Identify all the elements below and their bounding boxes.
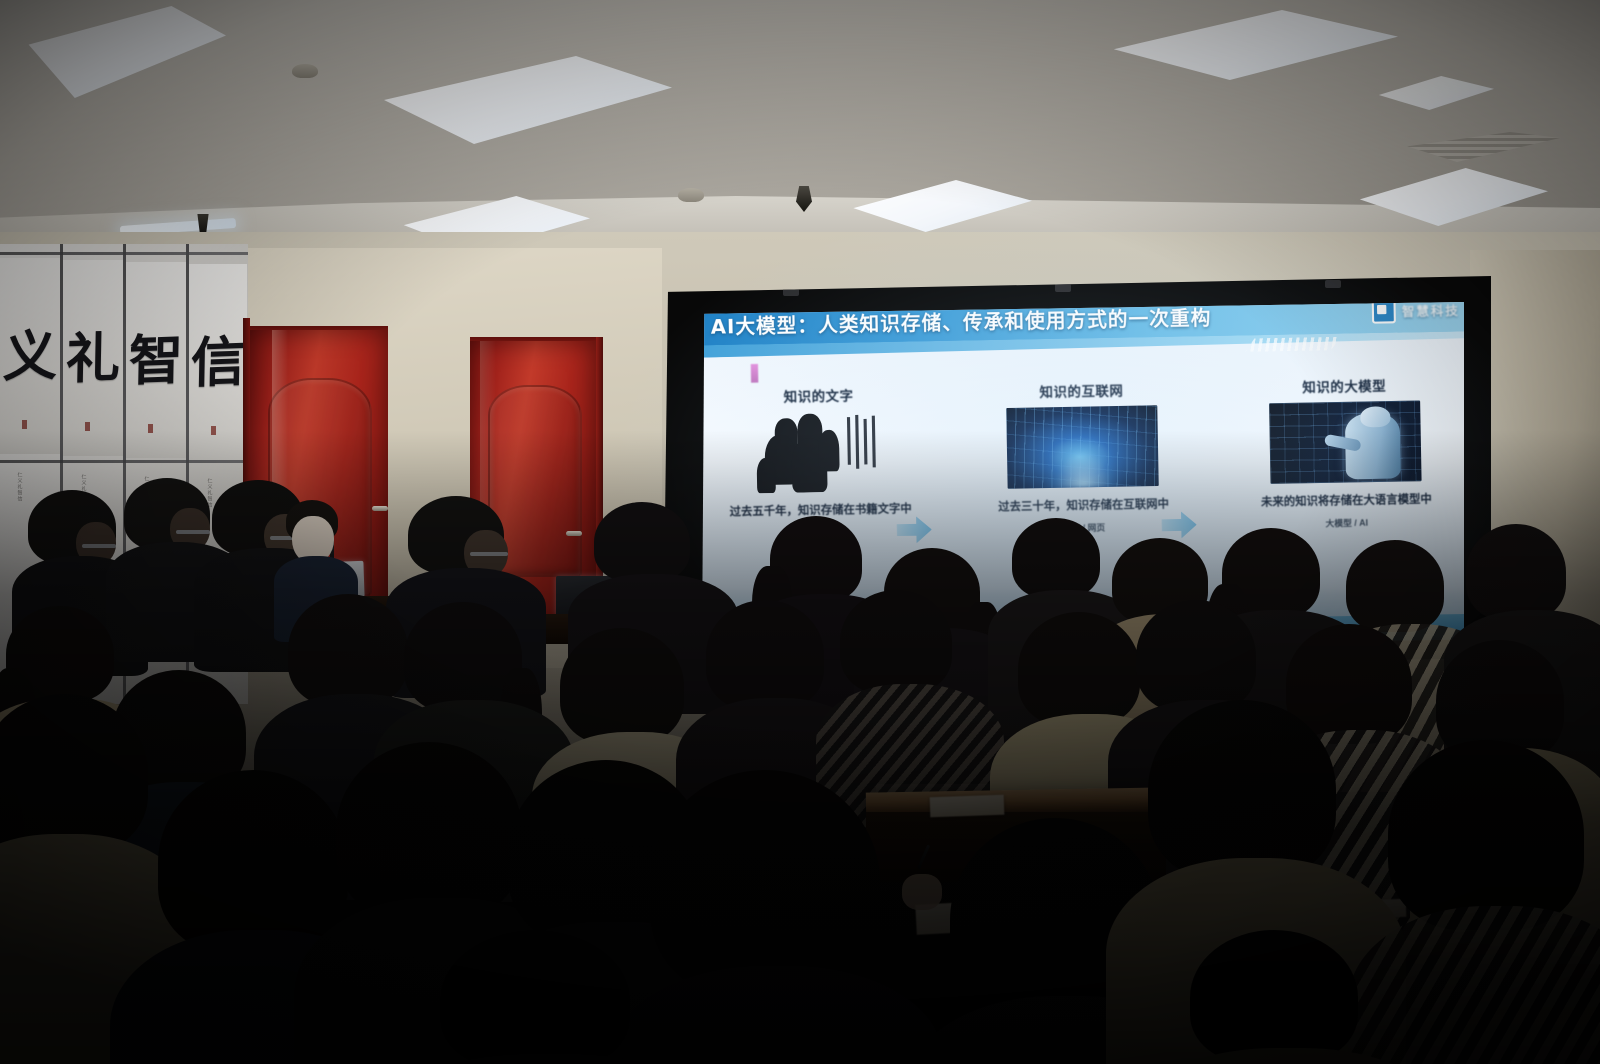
panel-title: 知识的文字 bbox=[704, 384, 933, 408]
slide-panel-llm: 知识的大模型 未来的知识将存储在大语言模型中 大模型 / AI bbox=[1230, 374, 1461, 532]
calligraphy-character: 智 bbox=[128, 332, 183, 388]
paper-sheet bbox=[930, 795, 1005, 818]
calligraphy-character: 信 bbox=[190, 334, 245, 390]
seal-mark-icon bbox=[22, 420, 27, 429]
door-handle[interactable] bbox=[566, 531, 582, 536]
smoke-detector-icon bbox=[292, 64, 318, 78]
panel-title: 知识的互联网 bbox=[967, 379, 1196, 403]
calligraphy-panel: 智 bbox=[126, 262, 186, 458]
panel-caption: 未来的知识将存储在大语言模型中 bbox=[1232, 491, 1461, 512]
square-logo-icon bbox=[1372, 302, 1396, 324]
conference-room-scene: 义 礼 智 信 仁义礼智信 仁义礼智信 仁义礼智信 仁义礼智信 bbox=[0, 0, 1600, 1064]
calligraphy-panel: 信 bbox=[189, 264, 247, 460]
historical-illustration-icon bbox=[743, 410, 896, 493]
slide-panel-internet: 知识的互联网 过去三十年，知识存储在互联网中 搜索 / 网页 bbox=[967, 379, 1198, 537]
seal-mark-icon bbox=[85, 422, 90, 431]
network-city-photo-icon bbox=[1006, 405, 1159, 488]
calligraphy-colophon: 仁义礼智信 bbox=[16, 472, 22, 512]
slide-logo: 智慧科技 bbox=[1372, 302, 1460, 324]
panel-title: 知识的大模型 bbox=[1230, 374, 1459, 398]
panel-caption: 过去三十年，知识存储在互联网中 bbox=[969, 496, 1198, 517]
slide-header-decoration bbox=[1245, 337, 1340, 352]
robot-head bbox=[1360, 406, 1391, 428]
seal-mark-icon bbox=[148, 424, 153, 433]
panel-seam bbox=[0, 252, 248, 255]
seal-mark-icon bbox=[211, 426, 216, 435]
calligraphy-character: 礼 bbox=[65, 330, 120, 386]
slide-accent-mark bbox=[751, 364, 759, 383]
robot-ai-photo-icon bbox=[1269, 400, 1422, 483]
door-handle[interactable] bbox=[372, 506, 388, 511]
smoke-detector-icon bbox=[678, 188, 704, 202]
bezel-sensor-icon bbox=[1055, 284, 1071, 292]
calligraphy-panel: 义 bbox=[0, 258, 60, 454]
logo-text: 智慧科技 bbox=[1402, 302, 1460, 320]
panel-seam bbox=[0, 460, 248, 463]
bezel-sensor-icon bbox=[1325, 280, 1341, 288]
calligraphy-panel: 礼 bbox=[63, 260, 123, 456]
calligraphy-character: 义 bbox=[2, 328, 57, 384]
